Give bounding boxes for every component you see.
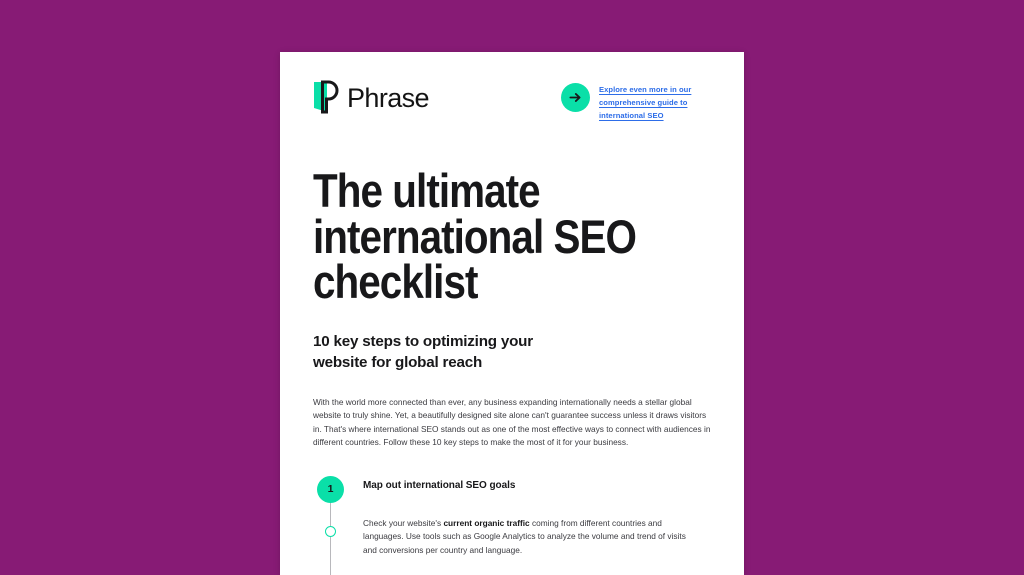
step-text-emphasis: current organic traffic	[443, 518, 529, 528]
brand-name: Phrase	[347, 85, 429, 112]
list-item: 1 Map out international SEO goals Check …	[313, 476, 711, 558]
step-heading: Map out international SEO goals	[363, 480, 711, 491]
intro-paragraph: With the world more connected than ever,…	[313, 396, 711, 450]
page-title: The ultimate international SEO checklist	[313, 168, 710, 305]
step-text: Check your website's current organic tra…	[363, 517, 693, 558]
document-content: Phrase Explore even more in our comprehe…	[280, 52, 744, 575]
cta-label: Explore even more in our comprehensive g…	[599, 83, 711, 122]
step-rail: 1	[313, 476, 363, 558]
cta-link[interactable]: Explore even more in our comprehensive g…	[561, 80, 711, 122]
step-body: Map out international SEO goals Check yo…	[363, 476, 711, 558]
screenshot-viewport: Phrase Explore even more in our comprehe…	[0, 0, 1024, 575]
document-header: Phrase Explore even more in our comprehe…	[313, 52, 711, 122]
document-page: Phrase Explore even more in our comprehe…	[280, 52, 744, 575]
page-subtitle: 10 key steps to optimizing your website …	[313, 332, 573, 374]
brand-logo: Phrase	[313, 80, 429, 114]
step-text-part-1: Check your website's	[363, 518, 443, 528]
step-bullet-icon	[325, 526, 336, 537]
step-connector-line	[330, 502, 331, 575]
step-number-badge: 1	[317, 476, 344, 503]
arrow-right-icon	[561, 83, 590, 112]
phrase-logo-icon	[313, 80, 339, 114]
steps-list: 1 Map out international SEO goals Check …	[313, 476, 711, 558]
